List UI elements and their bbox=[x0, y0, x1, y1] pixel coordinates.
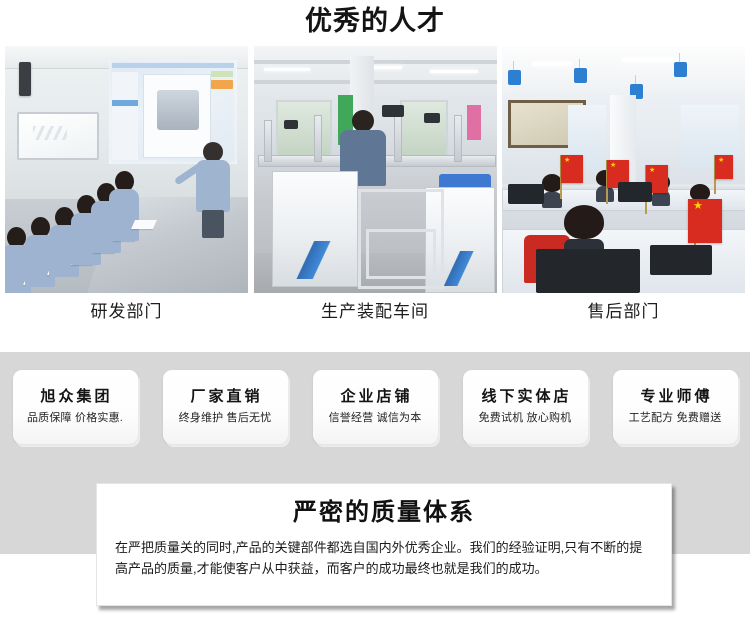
feature-card-store[interactable]: 企业店铺 信誉经营 诚信为本 bbox=[313, 370, 438, 444]
feature-card-subtitle: 工艺配方 免费赠送 bbox=[629, 408, 722, 428]
seated-person bbox=[109, 171, 139, 241]
caption-after-sales: 售后部门 bbox=[502, 296, 745, 330]
hanging-sign-icon bbox=[674, 62, 687, 77]
feature-card-subtitle: 免费试机 放心购机 bbox=[479, 408, 572, 428]
machine-blue-swoosh bbox=[273, 241, 357, 280]
ceiling-lamp bbox=[532, 62, 572, 66]
hanging-sign-icon bbox=[574, 68, 587, 83]
ceiling-beam bbox=[254, 60, 497, 64]
presenter-legs bbox=[202, 210, 224, 238]
aluminium-frame bbox=[366, 229, 436, 279]
machine-post bbox=[314, 115, 322, 161]
screen-sidebar bbox=[112, 72, 138, 160]
feature-card-group[interactable]: 旭众集团 品质保障 价格实惠. bbox=[13, 370, 138, 444]
feature-card-direct-sales[interactable]: 厂家直销 终身维护 售后无忧 bbox=[163, 370, 288, 444]
presenter-head bbox=[203, 142, 223, 162]
photo-captions: 研发部门 生产装配车间 售后部门 bbox=[5, 296, 745, 330]
quality-body-text: 在严把质量关的同时,产品的关键部件都选自国内外优秀企业。我们的经验证明,只有不断… bbox=[97, 528, 671, 579]
china-flag-icon: ★ bbox=[561, 155, 583, 183]
staff-person bbox=[542, 174, 562, 208]
seated-staff-group bbox=[5, 173, 149, 293]
machine-post bbox=[264, 120, 272, 162]
feature-card-subtitle: 品质保障 价格实惠. bbox=[27, 408, 123, 428]
window bbox=[276, 100, 332, 158]
ceiling bbox=[502, 46, 745, 95]
worker-head bbox=[352, 110, 374, 132]
quality-system-panel: 严密的质量体系 在严把质量关的同时,产品的关键部件都选自国内外优秀企业。我们的经… bbox=[96, 483, 672, 606]
ceiling-lamp bbox=[430, 70, 478, 73]
motor-unit bbox=[424, 113, 440, 123]
flag-star-icon: ★ bbox=[610, 162, 616, 169]
ceiling bbox=[254, 46, 497, 100]
screen-tag-green bbox=[211, 71, 233, 77]
quality-heading: 严密的质量体系 bbox=[97, 484, 671, 528]
feature-card-subtitle: 信誉经营 诚信为本 bbox=[329, 408, 422, 428]
feature-card-list: 旭众集团 品质保障 价格实惠. 厂家直销 终身维护 售后无忧 企业店铺 信誉经营… bbox=[0, 370, 750, 454]
china-flag-icon: ★ bbox=[688, 199, 722, 243]
caption-rnd-department: 研发部门 bbox=[5, 296, 248, 330]
motor-unit bbox=[284, 120, 298, 129]
promo-page: 优秀的人才 bbox=[0, 0, 750, 639]
screen-3d-model bbox=[157, 90, 199, 130]
screen-tag-orange bbox=[211, 80, 233, 89]
flag-star-icon: ★ bbox=[649, 167, 655, 174]
worker-person bbox=[340, 110, 386, 174]
hanging-sign-icon bbox=[508, 70, 521, 85]
whiteboard bbox=[17, 112, 99, 160]
flag-star-icon: ★ bbox=[718, 157, 724, 164]
computer-monitor bbox=[536, 249, 640, 293]
page-title: 优秀的人才 bbox=[0, 4, 750, 38]
flag-star-icon: ★ bbox=[693, 203, 703, 210]
china-flag-icon: ★ bbox=[715, 155, 733, 179]
feature-card-title: 企业店铺 bbox=[337, 386, 412, 408]
presenter-person bbox=[196, 142, 230, 238]
ceiling-lamp bbox=[264, 68, 310, 71]
pink-signboard bbox=[467, 105, 481, 140]
machine-post bbox=[394, 110, 402, 161]
screen-selected-row bbox=[112, 100, 138, 106]
feature-card-professional-master[interactable]: 专业师傅 工艺配方 免费赠送 bbox=[613, 370, 738, 444]
ceiling-lamp bbox=[622, 58, 678, 62]
flag-star-icon: ★ bbox=[564, 157, 570, 164]
feature-card-title: 厂家直销 bbox=[187, 386, 262, 408]
feature-card-title: 线下实体店 bbox=[478, 386, 571, 408]
feature-card-title: 专业师傅 bbox=[637, 386, 712, 408]
feature-card-subtitle: 终身维护 售后无忧 bbox=[179, 408, 272, 428]
window bbox=[400, 100, 448, 158]
machine-post bbox=[454, 115, 462, 161]
computer-monitor bbox=[618, 182, 652, 202]
photo-gallery: ★ ★ ★ ★ ★ bbox=[5, 46, 745, 293]
computer-monitor bbox=[508, 184, 544, 204]
caption-assembly-workshop: 生产装配车间 bbox=[254, 296, 497, 330]
assembly-machine bbox=[272, 171, 358, 287]
ceiling-beam bbox=[254, 80, 497, 84]
photo-rnd-department bbox=[5, 46, 248, 293]
feature-card-offline-shop[interactable]: 线下实体店 免费试机 放心购机 bbox=[463, 370, 588, 444]
computer-monitor bbox=[650, 245, 712, 275]
photo-after-sales-office: ★ ★ ★ ★ ★ bbox=[502, 46, 745, 293]
speaker-icon bbox=[19, 62, 31, 96]
photo-assembly-workshop bbox=[254, 46, 497, 293]
feature-card-title: 旭众集团 bbox=[37, 386, 112, 408]
screen-titlebar bbox=[112, 63, 234, 68]
